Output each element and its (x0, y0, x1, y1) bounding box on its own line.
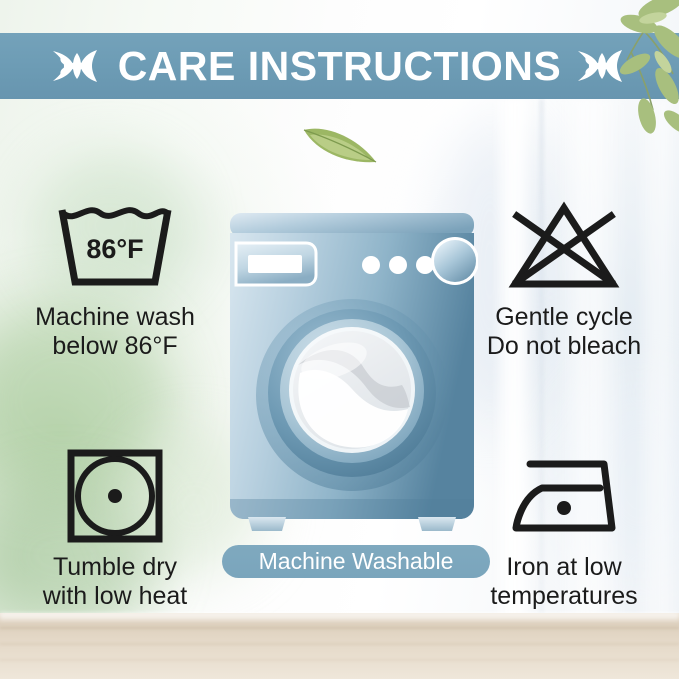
care-symbol-machine-wash: 86°F Machine wash below 86°F (0, 198, 230, 360)
floating-leaf-icon (300, 118, 380, 170)
do-not-bleach-triangle-icon (449, 198, 679, 294)
care-symbol-iron-low: Iron at low temperatures (449, 448, 679, 610)
care-symbol-label: Gentle cycle Do not bleach (449, 303, 679, 360)
care-symbol-do-not-bleach: Gentle cycle Do not bleach (449, 198, 679, 360)
page-title: CARE INSTRUCTIONS (118, 46, 562, 87)
washer-foot (418, 517, 456, 531)
iron-low-temp-icon (449, 448, 679, 544)
care-instructions-infographic: CARE INSTRUCTIONS (0, 0, 679, 679)
tumble-dry-low-icon (0, 448, 230, 544)
care-symbol-tumble-dry: Tumble dry with low heat (0, 448, 230, 610)
fleur-de-lis-icon (50, 44, 104, 88)
washer-foot (248, 517, 286, 531)
machine-washable-badge: Machine Washable (222, 545, 490, 578)
indicator-dot (389, 256, 407, 274)
table-edge-highlight (0, 613, 679, 623)
badge-label: Machine Washable (259, 550, 454, 573)
care-symbol-label: Tumble dry with low heat (0, 553, 230, 610)
washing-machine-illustration (226, 213, 478, 533)
header-banner: CARE INSTRUCTIONS (0, 33, 679, 99)
wash-temperature-value: 86°F (86, 234, 143, 264)
wash-tub-icon: 86°F (0, 198, 230, 294)
care-symbol-label: Machine wash below 86°F (0, 303, 230, 360)
indicator-dot (362, 256, 380, 274)
fleur-de-lis-icon (575, 44, 629, 88)
